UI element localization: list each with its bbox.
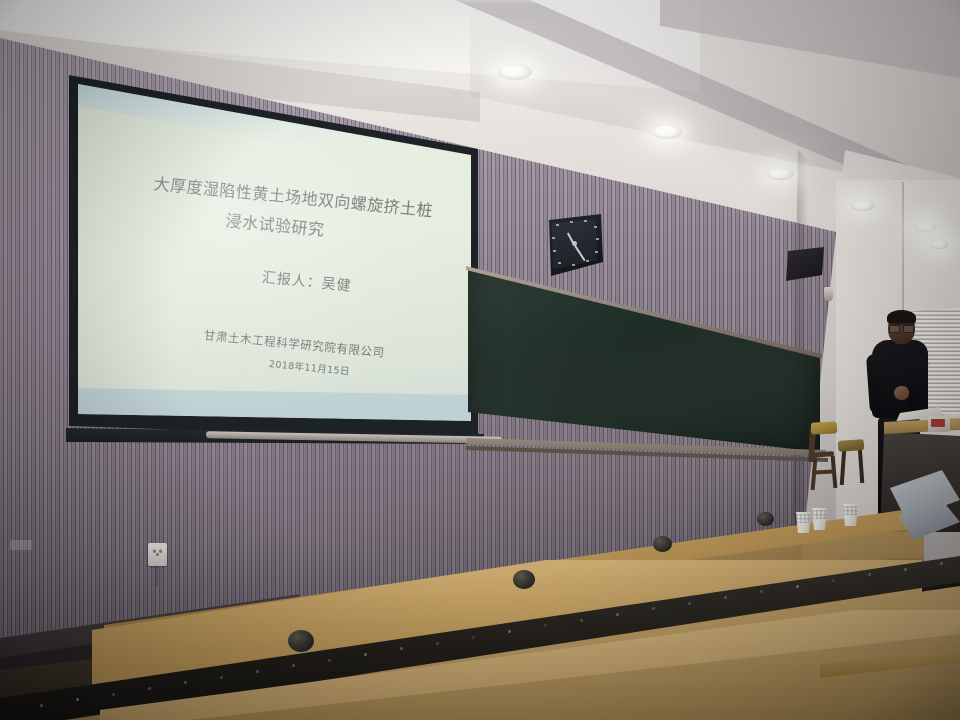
clock-tick-mark (596, 238, 599, 240)
clock-tick-mark (570, 221, 573, 223)
wall-plate (10, 540, 32, 550)
desk-trim-stud (148, 687, 151, 690)
desk-edge-knob (513, 570, 535, 589)
clock-tick-mark (595, 251, 598, 253)
ceiling-downlight (930, 240, 948, 249)
desk-trim-stud (472, 636, 475, 639)
clock-tick-mark (558, 262, 561, 264)
wall-outlet-sockets (152, 548, 163, 556)
desk-trim-stud (904, 568, 907, 571)
right-wall-seam (902, 182, 904, 312)
desk-trim-stud (364, 653, 367, 656)
desk-edge-knob (757, 512, 774, 526)
desk-trim-stud (256, 670, 259, 673)
clock-tick-mark (556, 224, 559, 226)
desk-edge-knob (653, 536, 672, 552)
ceiling-downlight (767, 168, 794, 180)
clock-tick-mark (594, 226, 597, 228)
outlet-cord (156, 566, 158, 586)
desk-trim-stud (220, 676, 223, 679)
clock-tick-mark (584, 220, 587, 222)
lecture-hall-photo: 大厚度湿陷性黄土场地双向螺旋挤土桩 浸水试验研究 汇报人：吴健 甘肃土木工程科学… (0, 0, 960, 720)
clock-tick-mark (552, 237, 555, 239)
desk-trim-stud (796, 585, 799, 588)
desk-trim-stud (940, 562, 943, 565)
clock-tick-mark (572, 264, 575, 266)
desk-trim-stud (580, 619, 583, 622)
clock-center-pin (572, 241, 577, 246)
desk-edge-knob (288, 630, 314, 652)
paper-cup (796, 512, 811, 533)
chair-seat (811, 421, 838, 434)
clock-tick-mark (586, 260, 589, 262)
presenter-hand (894, 386, 909, 400)
presenter-glasses (889, 323, 914, 331)
ceiling-downlight (652, 125, 682, 139)
desk-trim-stud (328, 659, 331, 662)
desk-trim-stud (436, 642, 439, 645)
desk-trim-stud (688, 602, 691, 605)
ceiling-downlight (851, 200, 875, 211)
clock-tick-mark (553, 250, 556, 252)
paper-cup (812, 508, 827, 530)
ceiling-downlight (498, 64, 532, 80)
ceiling-sensor (824, 287, 833, 301)
podium-box-label (931, 419, 945, 427)
chair2-seat (838, 439, 865, 452)
desk-trim-stud (40, 704, 43, 707)
desk-trim-stud (112, 693, 115, 696)
ceiling-downlight (915, 222, 936, 232)
paper-cup (843, 504, 858, 526)
